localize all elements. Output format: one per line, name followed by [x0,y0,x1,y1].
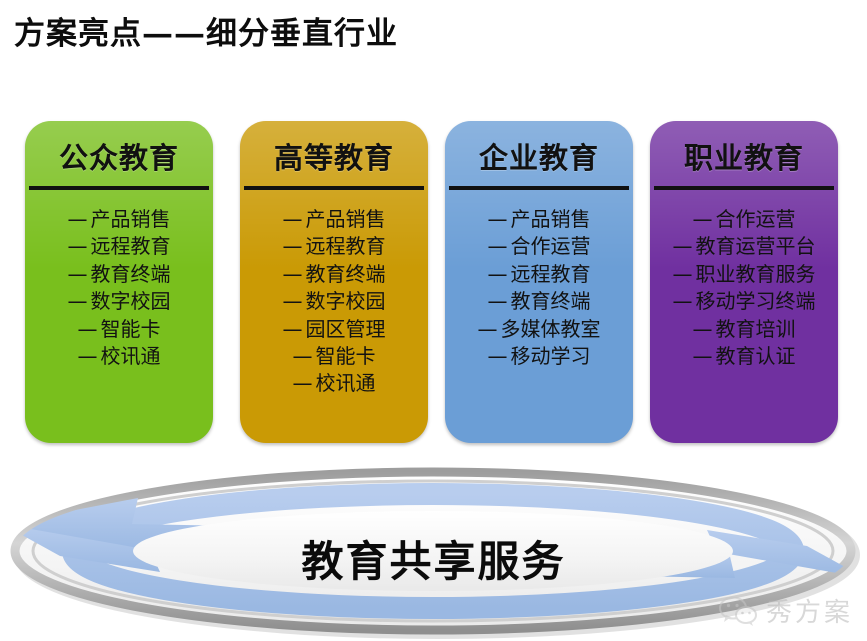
dash-icon: — [283,207,303,231]
dash-icon: — [488,289,508,313]
dash-icon: — [673,234,693,258]
list-item-label: 智能卡 [101,317,161,341]
dash-icon: — [78,317,98,341]
cycle-svg [0,452,867,641]
shared-service-cycle-graphic: 教育共享服务 [0,452,867,641]
list-item: —远程教育 [240,233,428,260]
dash-icon: — [68,207,88,231]
list-item: —产品销售 [240,206,428,233]
list-item-label: 多媒体教室 [501,317,601,341]
list-item-label: 教育认证 [716,344,796,368]
list-item: —产品销售 [445,206,633,233]
dash-icon: — [488,262,508,286]
card-item-list: —合作运营 —教育运营平台 —职业教育服务 —移动学习终端 —教育培训 —教育认… [650,206,838,370]
list-item-label: 教育终端 [511,289,591,313]
list-item-label: 教育运营平台 [696,234,816,258]
card-title-divider [29,186,209,190]
list-item: —远程教育 [25,233,213,260]
dash-icon: — [68,289,88,313]
list-item-label: 合作运营 [716,207,796,231]
list-item: —教育终端 [445,288,633,315]
dash-icon: — [293,371,313,395]
dash-icon: — [283,262,303,286]
dash-icon: — [283,317,303,341]
list-item-label: 远程教育 [511,262,591,286]
list-item: —校讯通 [240,370,428,397]
list-item: —多媒体教室 [445,316,633,343]
list-item: —移动学习 [445,343,633,370]
list-item: —园区管理 [240,316,428,343]
list-item-label: 移动学习终端 [696,289,816,313]
dash-icon: — [488,234,508,258]
list-item: —职业教育服务 [650,261,838,288]
list-item: —数字校园 [240,288,428,315]
list-item-label: 教育终端 [91,262,171,286]
dash-icon: — [693,344,713,368]
list-item-label: 产品销售 [511,207,591,231]
list-item-label: 职业教育服务 [696,262,816,286]
card-title-divider [654,186,834,190]
dash-icon: — [478,317,498,341]
category-card-public-education[interactable]: 公众教育 —产品销售 —远程教育 —教育终端 —数字校园 —智能卡 —校讯通 [25,121,213,443]
card-title-divider [449,186,629,190]
list-item-label: 合作运营 [511,234,591,258]
list-item-label: 远程教育 [306,234,386,258]
list-item-label: 校讯通 [101,344,161,368]
page-title: 方案亮点——细分垂直行业 [14,8,398,53]
list-item-label: 远程教育 [91,234,171,258]
list-item-label: 校讯通 [316,371,376,395]
list-item-label: 移动学习 [511,344,591,368]
dash-icon: — [283,289,303,313]
dash-icon: — [68,262,88,286]
card-item-list: —产品销售 —合作运营 —远程教育 —教育终端 —多媒体教室 —移动学习 [445,206,633,370]
dash-icon: — [68,234,88,258]
dash-icon: — [283,234,303,258]
list-item: —数字校园 [25,288,213,315]
list-item: —智能卡 [240,343,428,370]
list-item: —校讯通 [25,343,213,370]
list-item-label: 教育终端 [306,262,386,286]
list-item-label: 产品销售 [91,207,171,231]
card-title: 高等教育 [240,135,428,177]
list-item: —教育终端 [240,261,428,288]
dash-icon: — [693,317,713,341]
card-item-list: —产品销售 —远程教育 —教育终端 —数字校园 —智能卡 —校讯通 [25,206,213,370]
list-item-label: 产品销售 [306,207,386,231]
dash-icon: — [293,344,313,368]
category-card-vocational-education[interactable]: 职业教育 —合作运营 —教育运营平台 —职业教育服务 —移动学习终端 —教育培训… [650,121,838,443]
card-item-list: —产品销售 —远程教育 —教育终端 —数字校园 —园区管理 —智能卡 —校讯通 [240,206,428,398]
list-item: —产品销售 [25,206,213,233]
category-card-row: 公众教育 —产品销售 —远程教育 —教育终端 —数字校园 —智能卡 —校讯通 高… [0,121,867,443]
list-item-label: 园区管理 [306,317,386,341]
dash-icon: — [673,289,693,313]
category-card-enterprise-education[interactable]: 企业教育 —产品销售 —合作运营 —远程教育 —教育终端 —多媒体教室 —移动学… [445,121,633,443]
list-item-label: 智能卡 [316,344,376,368]
category-card-higher-education[interactable]: 高等教育 —产品销售 —远程教育 —教育终端 —数字校园 —园区管理 —智能卡 … [240,121,428,443]
list-item: —远程教育 [445,261,633,288]
list-item: —合作运营 [650,206,838,233]
list-item-label: 教育培训 [716,317,796,341]
dash-icon: — [78,344,98,368]
list-item: —教育运营平台 [650,233,838,260]
dash-icon: — [693,207,713,231]
dash-icon: — [488,344,508,368]
list-item-label: 数字校园 [306,289,386,313]
list-item: —教育培训 [650,316,838,343]
list-item-label: 数字校园 [91,289,171,313]
cycle-inner-plate [133,511,733,591]
list-item: —教育终端 [25,261,213,288]
list-item: —合作运营 [445,233,633,260]
dash-icon: — [673,262,693,286]
card-title: 公众教育 [25,135,213,177]
list-item: —智能卡 [25,316,213,343]
card-title-divider [244,186,424,190]
card-title: 企业教育 [445,135,633,177]
card-title: 职业教育 [650,135,838,177]
dash-icon: — [488,207,508,231]
list-item: —移动学习终端 [650,288,838,315]
list-item: —教育认证 [650,343,838,370]
